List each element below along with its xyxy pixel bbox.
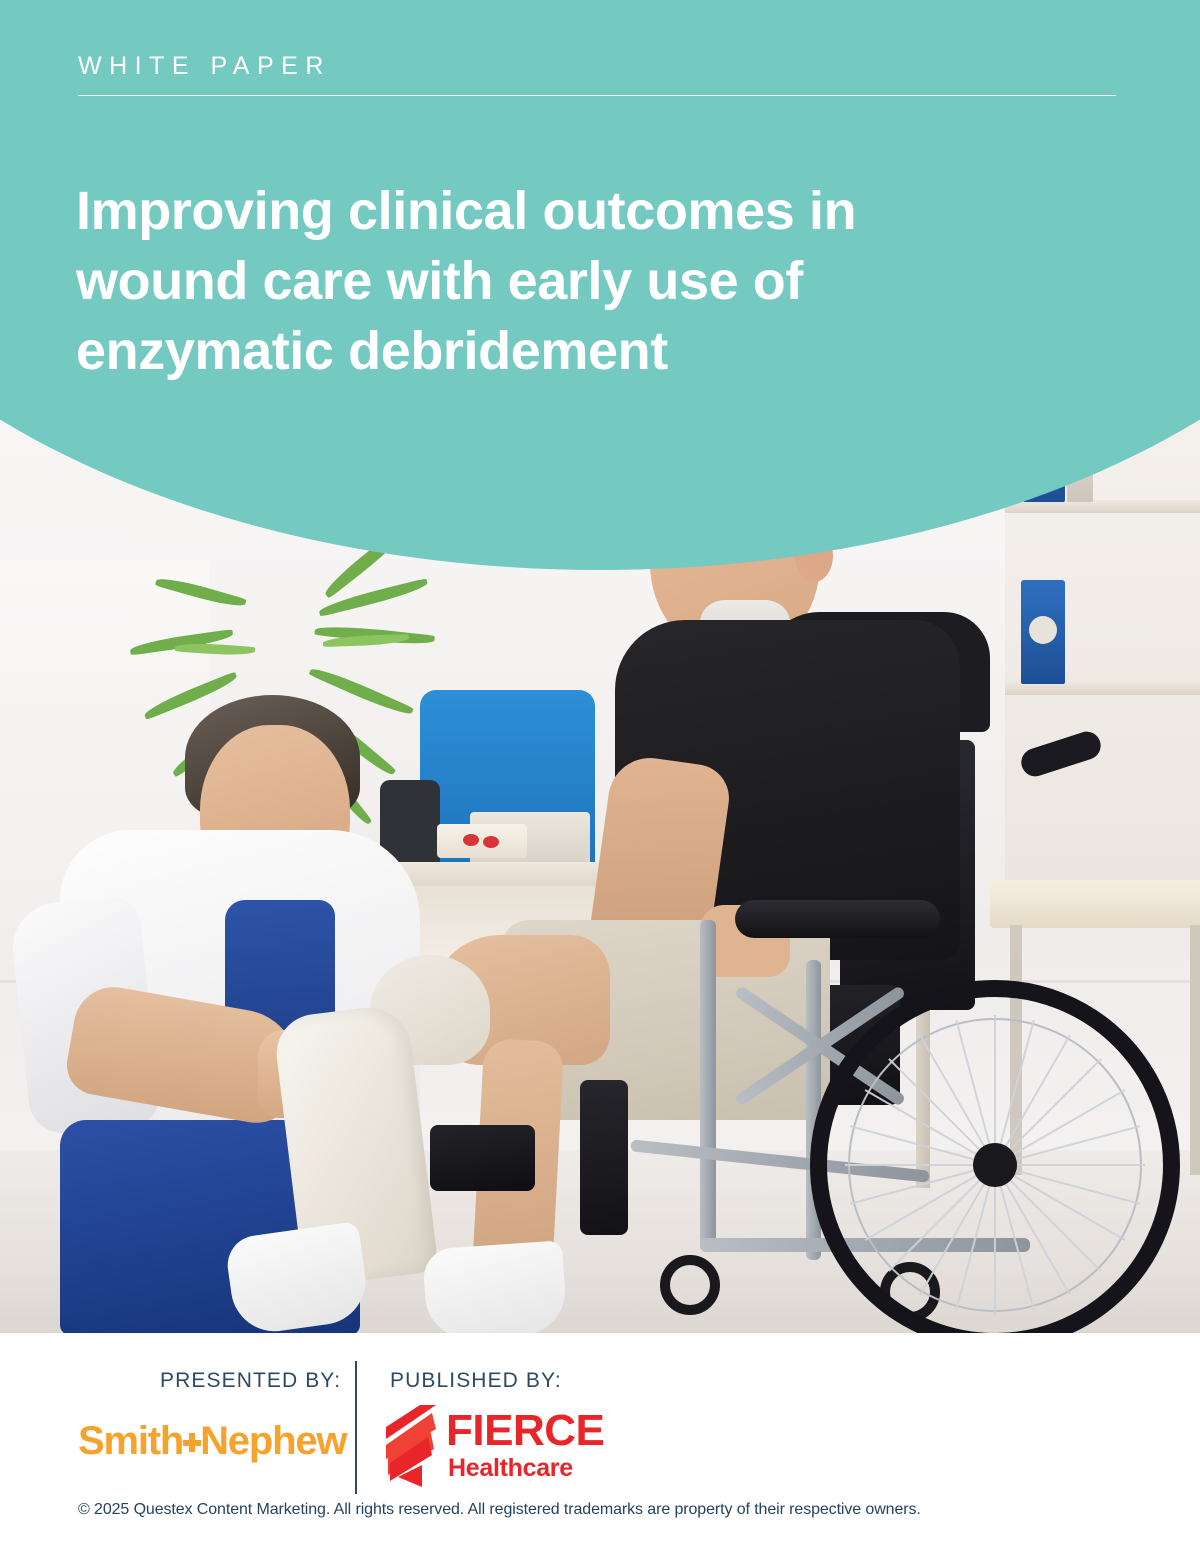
header: WHITE PAPER Improving clinical outcomes … [0, 0, 1200, 430]
smith-nephew-logo[interactable]: SmithNephew [78, 1419, 346, 1464]
copyright-notice: © 2025 Questex Content Marketing. All ri… [78, 1501, 921, 1519]
fierce-healthcare-logo[interactable]: FIERCE Healthcare [386, 1405, 586, 1487]
wheelchair-legrest [580, 1080, 628, 1235]
wheelchair-caster [660, 1255, 720, 1315]
page-title: Improving clinical outcomes in wound car… [76, 176, 936, 386]
fierce-subtitle: Healthcare [448, 1456, 573, 1481]
plus-icon [182, 1433, 201, 1452]
wheelchair-footplate [430, 1125, 535, 1191]
published-by-label: PUBLISHED BY: [390, 1369, 562, 1393]
eyebrow-divider-rule [78, 95, 1116, 96]
presented-by-label: PRESENTED BY: [160, 1369, 341, 1393]
credits-row: PRESENTED BY: PUBLISHED BY: SmithNephew [0, 1333, 1200, 1498]
wheelchair-armrest [735, 900, 940, 938]
fierce-wordmark: FIERCE [446, 1409, 604, 1453]
white-paper-cover: WHITE PAPER Improving clinical outcomes … [0, 0, 1200, 1555]
wheelchair-hub [973, 1143, 1017, 1187]
smith-nephew-name-part2: Nephew [200, 1419, 346, 1463]
published-by-column: PUBLISHED BY: [390, 1369, 562, 1393]
patient-sock [422, 1240, 568, 1333]
exam-bed-leg [1190, 925, 1200, 1175]
document-type-eyebrow: WHITE PAPER [78, 52, 331, 81]
footer: PRESENTED BY: PUBLISHED BY: SmithNephew [0, 1333, 1200, 1555]
pill-tray [437, 824, 527, 858]
presented-by-column: PRESENTED BY: [160, 1369, 341, 1393]
fierce-flame-icon [386, 1405, 442, 1487]
binder-label [1029, 616, 1057, 644]
credits-divider [355, 1361, 357, 1494]
smith-nephew-name-part1: Smith [78, 1419, 183, 1463]
exam-bed [990, 880, 1200, 928]
wheelchair-frame-tube [700, 920, 716, 1250]
